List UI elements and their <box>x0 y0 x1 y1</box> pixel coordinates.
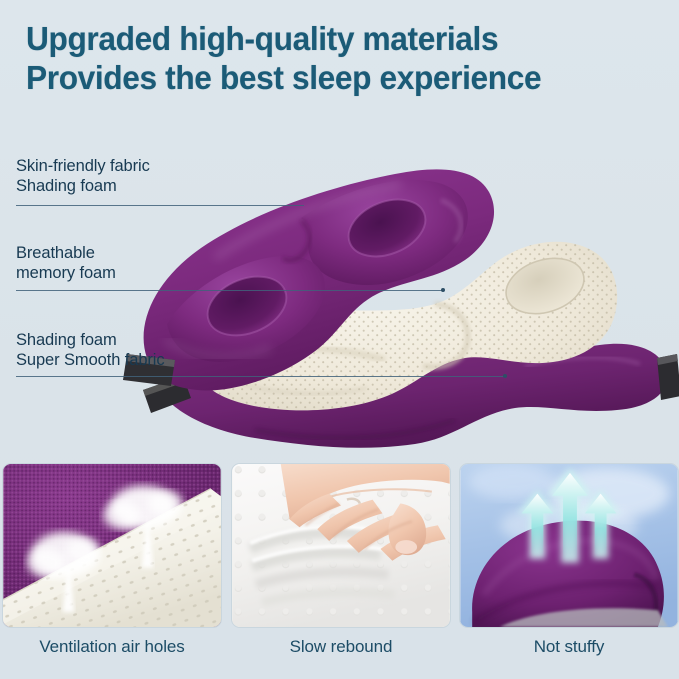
leader-line-2 <box>16 290 444 291</box>
panel-slow-rebound <box>231 463 451 628</box>
panel-ventilation <box>2 463 222 628</box>
caption-not-stuffy: Not stuffy <box>459 637 679 657</box>
product-image <box>105 108 679 453</box>
caption-ventilation: Ventilation air holes <box>2 637 222 657</box>
headline-line-2: Provides the best sleep experience <box>26 59 640 98</box>
leader-line-3 <box>16 376 506 377</box>
page-title: Upgraded high-quality materials Provides… <box>26 20 640 97</box>
leader-dot-2 <box>441 288 445 292</box>
panel-not-stuffy <box>459 463 679 628</box>
feature-panels <box>0 463 679 628</box>
leader-line-1 <box>16 205 304 206</box>
product-infographic-page: Upgraded high-quality materials Provides… <box>0 0 679 679</box>
headline-line-1: Upgraded high-quality materials <box>26 20 498 57</box>
annotation-breathable: Breathable memory foam <box>16 243 116 283</box>
annotation-shading-foam: Shading foam Super Smooth fabric <box>16 330 165 370</box>
annotation-skin-friendly: Skin-friendly fabric Shading foam <box>16 156 150 196</box>
leader-dot-3 <box>503 374 507 378</box>
caption-slow-rebound: Slow rebound <box>231 637 451 657</box>
